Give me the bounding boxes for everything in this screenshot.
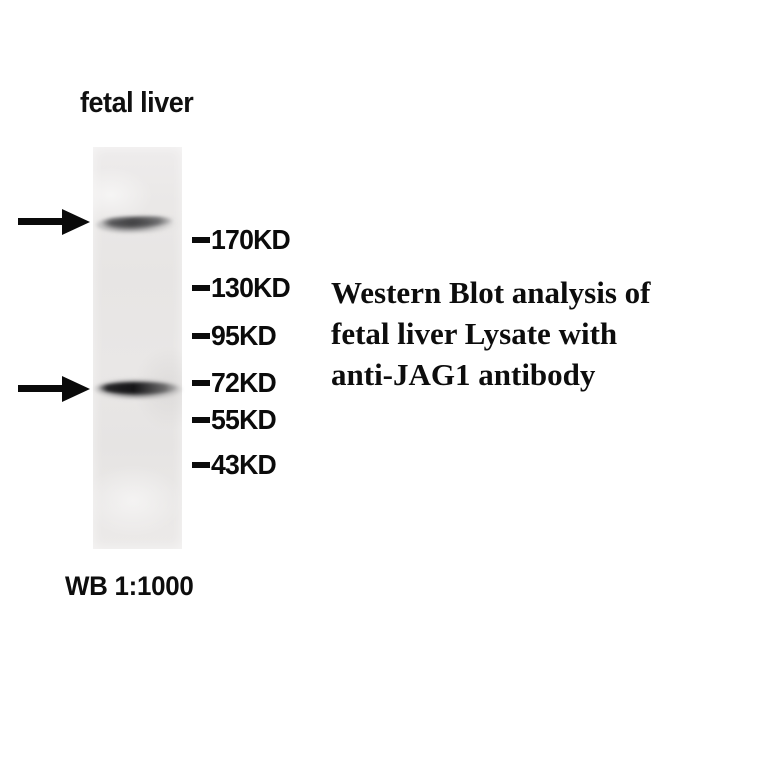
marker-55kd: 55KD — [192, 406, 279, 434]
marker-72kd: 72KD — [192, 369, 279, 397]
marker-tick-icon — [192, 285, 210, 291]
blot-lane — [93, 147, 182, 549]
marker-tick-icon — [192, 237, 210, 243]
marker-label-95kd: 95KD — [211, 322, 276, 350]
lane-title-fetal-liver: fetal liver — [80, 88, 193, 118]
marker-tick-icon — [192, 380, 210, 386]
description-line-3: anti-JAG1 antibody — [331, 354, 751, 395]
molecular-weight-ladder: 170KD 130KD 95KD 72KD 55KD 43KD — [192, 0, 332, 764]
marker-label-72kd: 72KD — [211, 369, 276, 397]
marker-170kd: 170KD — [192, 226, 294, 254]
description-line-2: fetal liver Lysate with — [331, 313, 751, 354]
marker-tick-icon — [192, 462, 210, 468]
marker-label-130kd: 130KD — [211, 274, 290, 302]
band-lower-core — [98, 383, 178, 393]
arrow-lower-band-icon — [18, 374, 92, 404]
marker-tick-icon — [192, 333, 210, 339]
marker-label-170kd: 170KD — [211, 226, 290, 254]
marker-tick-icon — [192, 417, 210, 423]
marker-95kd: 95KD — [192, 322, 279, 350]
band-upper-170kd — [96, 214, 180, 234]
marker-130kd: 130KD — [192, 274, 294, 302]
marker-43kd: 43KD — [192, 451, 279, 479]
arrow-upper-band-icon — [18, 207, 92, 237]
figure-description: Western Blot analysis of fetal liver Lys… — [331, 272, 751, 395]
wb-dilution-label: WB 1:1000 — [65, 572, 194, 600]
description-line-1: Western Blot analysis of — [331, 272, 751, 313]
western-blot-figure: fetal liver 170KD 130KD 95KD — [0, 0, 764, 764]
band-upper-core — [101, 216, 173, 227]
band-lower-72kd — [94, 379, 182, 400]
marker-label-55kd: 55KD — [211, 406, 276, 434]
marker-label-43kd: 43KD — [211, 451, 276, 479]
